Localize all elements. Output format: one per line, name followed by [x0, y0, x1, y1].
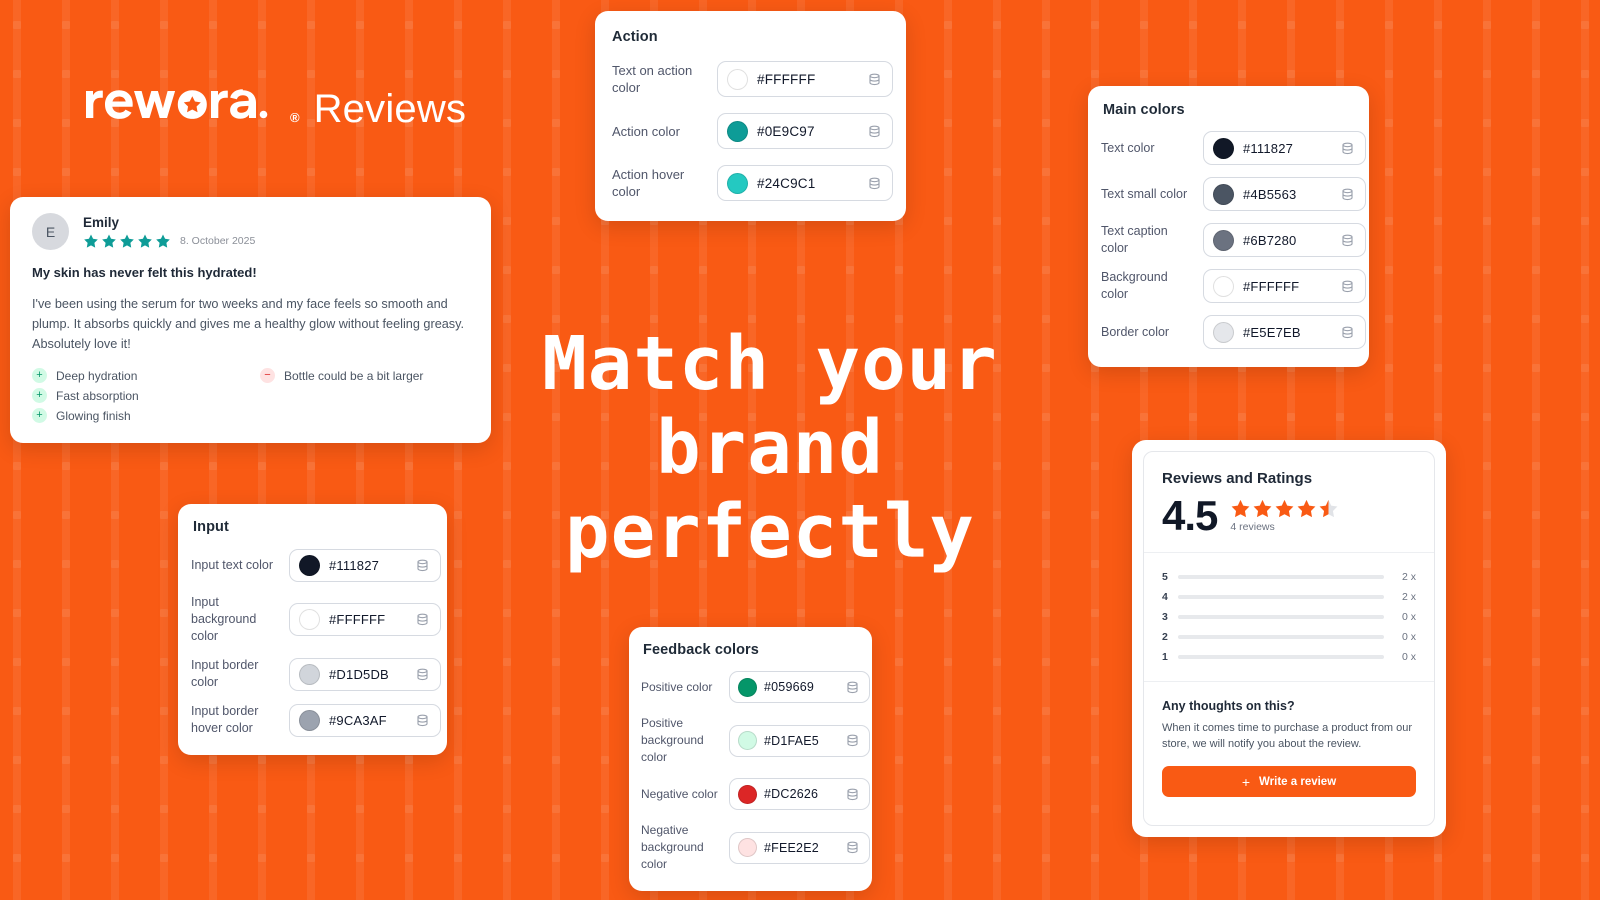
review-title: My skin has never felt this hydrated!	[32, 265, 469, 280]
review-star-rating	[83, 233, 171, 249]
color-row: Action color#0E9C97	[612, 113, 889, 149]
color-swatch[interactable]	[727, 69, 748, 90]
database-icon[interactable]	[415, 713, 430, 728]
color-row-label: Negative background color	[641, 822, 719, 873]
color-hex-value: #111827	[329, 558, 406, 573]
star-icon	[137, 233, 153, 249]
action-colors-card: Action Text on action color#FFFFFFAction…	[595, 11, 906, 221]
review-cons-list: −Bottle could be a bit larger	[260, 368, 423, 423]
rating-bar-count: 2 x	[1392, 571, 1416, 583]
prompt-text: When it comes time to purchase a product…	[1162, 720, 1416, 752]
color-row: Input border color#D1D5DB	[191, 657, 431, 691]
color-row: Input border hover color#9CA3AF	[191, 703, 431, 737]
plus-icon: +	[1242, 775, 1250, 789]
color-picker-field[interactable]: #24C9C1	[717, 165, 893, 201]
review-header: E Emily 8. October 2025	[32, 213, 469, 250]
color-row-label: Positive background color	[641, 715, 719, 766]
action-color-rows: Text on action color#FFFFFFAction color#…	[612, 61, 889, 201]
color-hex-value: #059669	[764, 680, 838, 694]
color-picker-field[interactable]: #4B5563	[1203, 177, 1366, 211]
review-pro-item: +Deep hydration	[32, 368, 260, 383]
plus-badge-icon: +	[32, 368, 47, 383]
color-row: Border color#E5E7EB	[1101, 315, 1353, 349]
main-colors-card: Main colors Text color#111827Text small …	[1088, 86, 1369, 367]
color-row-label: Text caption color	[1101, 223, 1193, 257]
color-picker-field[interactable]: #059669	[729, 671, 870, 703]
color-hex-value: #E5E7EB	[1243, 325, 1331, 340]
rating-bar-row: 20 x	[1162, 627, 1416, 647]
color-picker-field[interactable]: #E5E7EB	[1203, 315, 1366, 349]
rating-bar-row: 42 x	[1162, 587, 1416, 607]
color-hex-value: #D1D5DB	[329, 667, 406, 682]
review-pro-label: Deep hydration	[56, 369, 137, 383]
rating-bar-track	[1178, 595, 1384, 599]
database-icon[interactable]	[845, 680, 860, 695]
registered-trademark-icon: ®	[290, 110, 300, 129]
color-row-label: Action hover color	[612, 166, 707, 200]
rating-bar-row: 30 x	[1162, 607, 1416, 627]
rating-bar-track	[1178, 615, 1384, 619]
color-swatch[interactable]	[299, 555, 320, 576]
rating-bar-count: 0 x	[1392, 651, 1416, 663]
color-swatch[interactable]	[1213, 184, 1234, 205]
color-picker-field[interactable]: #FFFFFF	[289, 603, 441, 636]
color-row: Input background color#FFFFFF	[191, 594, 431, 645]
color-hex-value: #FEE2E2	[764, 841, 838, 855]
main-color-rows: Text color#111827Text small color#4B5563…	[1101, 131, 1353, 349]
write-a-review-button[interactable]: + Write a review	[1162, 766, 1416, 797]
color-row-label: Positive color	[641, 679, 719, 696]
input-color-rows: Input text color#111827Input background …	[191, 549, 431, 737]
star-icon	[119, 233, 135, 249]
card-title: Feedback colors	[643, 642, 858, 658]
rating-bar-row: 52 x	[1162, 567, 1416, 587]
ratings-summary: Reviews and Ratings 4.5 4 reviews	[1144, 452, 1434, 553]
database-icon[interactable]	[867, 72, 882, 87]
color-picker-field[interactable]: #FEE2E2	[729, 832, 870, 864]
star-icon	[101, 233, 117, 249]
color-swatch[interactable]	[738, 838, 757, 857]
database-icon[interactable]	[845, 733, 860, 748]
headline-line-2: brand	[520, 406, 1020, 490]
review-date: 8. October 2025	[180, 235, 255, 247]
color-picker-field[interactable]: #DC2626	[729, 778, 870, 810]
rating-bar-stars: 2	[1162, 631, 1170, 643]
color-row-label: Input border color	[191, 657, 279, 691]
color-row-label: Border color	[1101, 324, 1193, 341]
star-icon	[155, 233, 171, 249]
color-row: Text small color#4B5563	[1101, 177, 1353, 211]
color-hex-value: #111827	[1243, 141, 1331, 156]
color-swatch[interactable]	[1213, 322, 1234, 343]
color-hex-value: #FFFFFF	[757, 72, 858, 87]
color-hex-value: #6B7280	[1243, 233, 1331, 248]
average-star-rating	[1230, 498, 1339, 519]
database-icon[interactable]	[415, 612, 430, 627]
color-swatch[interactable]	[299, 710, 320, 731]
color-hex-value: #FFFFFF	[329, 612, 406, 627]
review-card: E Emily 8. October 2025 My skin has neve…	[10, 197, 491, 443]
star-half-icon	[1318, 498, 1339, 519]
rating-bar-track	[1178, 635, 1384, 639]
plus-badge-icon: +	[32, 388, 47, 403]
color-picker-field[interactable]: #0E9C97	[717, 113, 893, 149]
color-hex-value: #0E9C97	[757, 124, 858, 139]
color-row: Positive background color#D1FAE5	[641, 715, 858, 766]
rating-bar-stars: 5	[1162, 571, 1170, 583]
color-picker-field[interactable]: #6B7280	[1203, 223, 1366, 257]
color-row: Background color#FFFFFF	[1101, 269, 1353, 303]
color-swatch[interactable]	[738, 785, 757, 804]
prompt-title: Any thoughts on this?	[1162, 699, 1416, 713]
feedback-color-rows: Positive color#059669Positive background…	[641, 671, 858, 873]
rating-bar-stars: 1	[1162, 651, 1170, 663]
database-icon[interactable]	[1340, 233, 1355, 248]
color-picker-field[interactable]: #111827	[1203, 131, 1366, 165]
color-swatch[interactable]	[738, 731, 757, 750]
avatar: E	[32, 213, 69, 250]
hero-headline: Match your brand perfectly	[520, 322, 1020, 574]
database-icon[interactable]	[845, 787, 860, 802]
color-picker-field[interactable]: #FFFFFF	[1203, 269, 1366, 303]
color-picker-field[interactable]: #9CA3AF	[289, 704, 441, 737]
review-pro-label: Fast absorption	[56, 389, 139, 403]
color-swatch[interactable]	[727, 173, 748, 194]
color-swatch[interactable]	[1213, 230, 1234, 251]
color-row-label: Text small color	[1101, 186, 1193, 203]
color-hex-value: #FFFFFF	[1243, 279, 1331, 294]
color-row-label: Background color	[1101, 269, 1193, 303]
color-row: Text on action color#FFFFFF	[612, 61, 889, 97]
database-icon[interactable]	[1340, 279, 1355, 294]
database-icon[interactable]	[1340, 187, 1355, 202]
review-pro-item: +Glowing finish	[32, 408, 260, 423]
review-con-label: Bottle could be a bit larger	[284, 369, 423, 383]
color-hex-value: #24C9C1	[757, 176, 858, 191]
color-row: Negative background color#FEE2E2	[641, 822, 858, 873]
headline-line-1: Match your	[520, 322, 1020, 406]
rating-bar-stars: 3	[1162, 611, 1170, 623]
color-picker-field[interactable]: #FFFFFF	[717, 61, 893, 97]
rating-bar-count: 0 x	[1392, 631, 1416, 643]
product-name: Reviews	[314, 89, 467, 129]
review-pro-label: Glowing finish	[56, 409, 131, 423]
ratings-title: Reviews and Ratings	[1162, 470, 1416, 487]
color-row: Text color#111827	[1101, 131, 1353, 165]
database-icon[interactable]	[415, 667, 430, 682]
database-icon[interactable]	[867, 176, 882, 191]
star-icon	[1230, 498, 1251, 519]
star-icon	[83, 233, 99, 249]
color-row-label: Input background color	[191, 594, 279, 645]
card-title: Main colors	[1103, 102, 1353, 118]
database-icon[interactable]	[1340, 325, 1355, 340]
star-icon	[1296, 498, 1317, 519]
brand-logo: ® Reviews	[84, 78, 466, 129]
color-row-label: Action color	[612, 123, 707, 140]
rating-bar-row: 10 x	[1162, 647, 1416, 667]
color-hex-value: #DC2626	[764, 787, 838, 801]
database-icon[interactable]	[1340, 141, 1355, 156]
color-swatch[interactable]	[1213, 138, 1234, 159]
review-body: I've been using the serum for two weeks …	[32, 294, 469, 354]
color-hex-value: #4B5563	[1243, 187, 1331, 202]
color-swatch[interactable]	[727, 121, 748, 142]
review-pros-list: +Deep hydration+Fast absorption+Glowing …	[32, 368, 260, 423]
rating-bar-track	[1178, 655, 1384, 659]
color-row-label: Input text color	[191, 557, 279, 574]
reviews-count: 4 reviews	[1230, 521, 1339, 533]
star-icon	[1252, 498, 1273, 519]
input-colors-card: Input Input text color#111827Input backg…	[178, 504, 447, 755]
color-swatch[interactable]	[299, 664, 320, 685]
rewora-wordmark	[84, 78, 274, 122]
minus-badge-icon: −	[260, 368, 275, 383]
color-row: Positive color#059669	[641, 671, 858, 703]
color-row-label: Text color	[1101, 140, 1193, 157]
rating-bar-count: 2 x	[1392, 591, 1416, 603]
color-picker-field[interactable]: #D1FAE5	[729, 725, 870, 757]
color-row: Text caption color#6B7280	[1101, 223, 1353, 257]
review-tags: +Deep hydration+Fast absorption+Glowing …	[32, 368, 469, 423]
rating-bar-count: 0 x	[1392, 611, 1416, 623]
review-pro-item: +Fast absorption	[32, 388, 260, 403]
color-picker-field[interactable]: #D1D5DB	[289, 658, 441, 691]
color-picker-field[interactable]: #111827	[289, 549, 441, 582]
color-row: Negative color#DC2626	[641, 778, 858, 810]
color-hex-value: #D1FAE5	[764, 734, 838, 748]
reviews-and-ratings-widget: Reviews and Ratings 4.5 4 reviews 52 x42…	[1132, 440, 1446, 837]
star-icon	[1274, 498, 1295, 519]
database-icon[interactable]	[845, 840, 860, 855]
average-score: 4.5	[1162, 496, 1217, 536]
write-a-review-label: Write a review	[1259, 776, 1336, 788]
card-title: Input	[193, 519, 431, 535]
color-row: Input text color#111827	[191, 549, 431, 582]
star-in-o-icon	[84, 78, 274, 122]
color-hex-value: #9CA3AF	[329, 713, 406, 728]
headline-line-3: perfectly	[520, 490, 1020, 574]
rating-distribution: 52 x42 x30 x20 x10 x	[1144, 553, 1434, 682]
color-row: Action hover color#24C9C1	[612, 165, 889, 201]
color-swatch[interactable]	[1213, 276, 1234, 297]
card-title: Action	[612, 29, 889, 45]
rating-bar-stars: 4	[1162, 591, 1170, 603]
review-con-item: −Bottle could be a bit larger	[260, 368, 423, 383]
feedback-colors-card: Feedback colors Positive color#059669Pos…	[629, 627, 872, 891]
rating-bar-track	[1178, 575, 1384, 579]
color-row-label: Negative color	[641, 786, 719, 803]
color-swatch[interactable]	[299, 609, 320, 630]
database-icon[interactable]	[867, 124, 882, 139]
color-swatch[interactable]	[738, 678, 757, 697]
write-review-prompt: Any thoughts on this? When it comes time…	[1144, 682, 1434, 813]
color-row-label: Text on action color	[612, 62, 707, 96]
color-row-label: Input border hover color	[191, 703, 279, 737]
review-author: Emily	[83, 215, 255, 230]
database-icon[interactable]	[415, 558, 430, 573]
plus-badge-icon: +	[32, 408, 47, 423]
